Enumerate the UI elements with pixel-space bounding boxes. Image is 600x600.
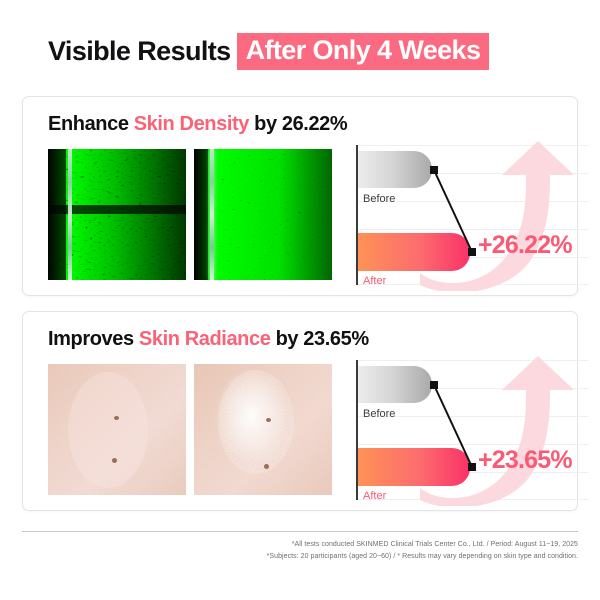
results-infographic: Visible Results After Only 4 Weeks Enhan…	[0, 0, 600, 600]
page-title-highlight: After Only 4 Weeks	[237, 33, 490, 70]
card-title-accent: Skin Density	[134, 113, 249, 135]
footnote-line: *All tests conducted SKINMED Clinical Tr…	[267, 539, 578, 551]
page-title: Visible Results After Only 4 Weeks	[48, 33, 489, 70]
skin-radiance-photo-after	[194, 364, 332, 495]
bar-label-after: After	[363, 490, 386, 502]
result-card-skin-density: Enhance Skin Density by 26.22%	[22, 96, 578, 296]
card-title: Enhance Skin Density by 26.22%	[48, 113, 347, 136]
bar-label-after: After	[363, 275, 386, 287]
result-card-skin-radiance: Improves Skin Radiance by 23.65%	[22, 311, 578, 511]
card-title-lead: Improves	[48, 328, 134, 350]
collagen-density-microscopy-before	[48, 149, 186, 280]
microscopy-speckle-after	[194, 149, 332, 280]
before-after-connector	[356, 145, 556, 285]
card-title-tail: by 26.22%	[254, 113, 347, 135]
skin-radiance-photo-before	[48, 364, 186, 495]
skin-radiance-chart: Before After +23.65%	[356, 360, 556, 500]
skin-density-chart: Before After +26.22%	[356, 145, 556, 285]
card-title: Improves Skin Radiance by 23.65%	[48, 328, 369, 351]
skin-texture-before	[48, 364, 186, 495]
skin-texture-after	[194, 364, 332, 495]
page-title-plain: Visible Results	[48, 36, 231, 67]
footnotes: *All tests conducted SKINMED Clinical Tr…	[267, 539, 578, 562]
chart-plot-area: Before After +26.22%	[356, 145, 556, 285]
before-after-connector	[356, 360, 556, 500]
footer-divider	[22, 531, 578, 532]
card-title-tail: by 23.65%	[276, 328, 369, 350]
footnote-line: *Subjects: 20 participants (aged 20~60) …	[267, 551, 578, 563]
bar-label-before: Before	[363, 408, 395, 420]
delta-value: +26.22%	[478, 231, 572, 260]
comparison-photos	[48, 364, 332, 495]
bar-label-before: Before	[363, 193, 395, 205]
card-title-lead: Enhance	[48, 113, 129, 135]
chart-plot-area: Before After +23.65%	[356, 360, 556, 500]
collagen-density-microscopy-after	[194, 149, 332, 280]
comparison-photos	[48, 149, 332, 280]
card-title-accent: Skin Radiance	[139, 328, 271, 350]
delta-value: +23.65%	[478, 446, 572, 475]
